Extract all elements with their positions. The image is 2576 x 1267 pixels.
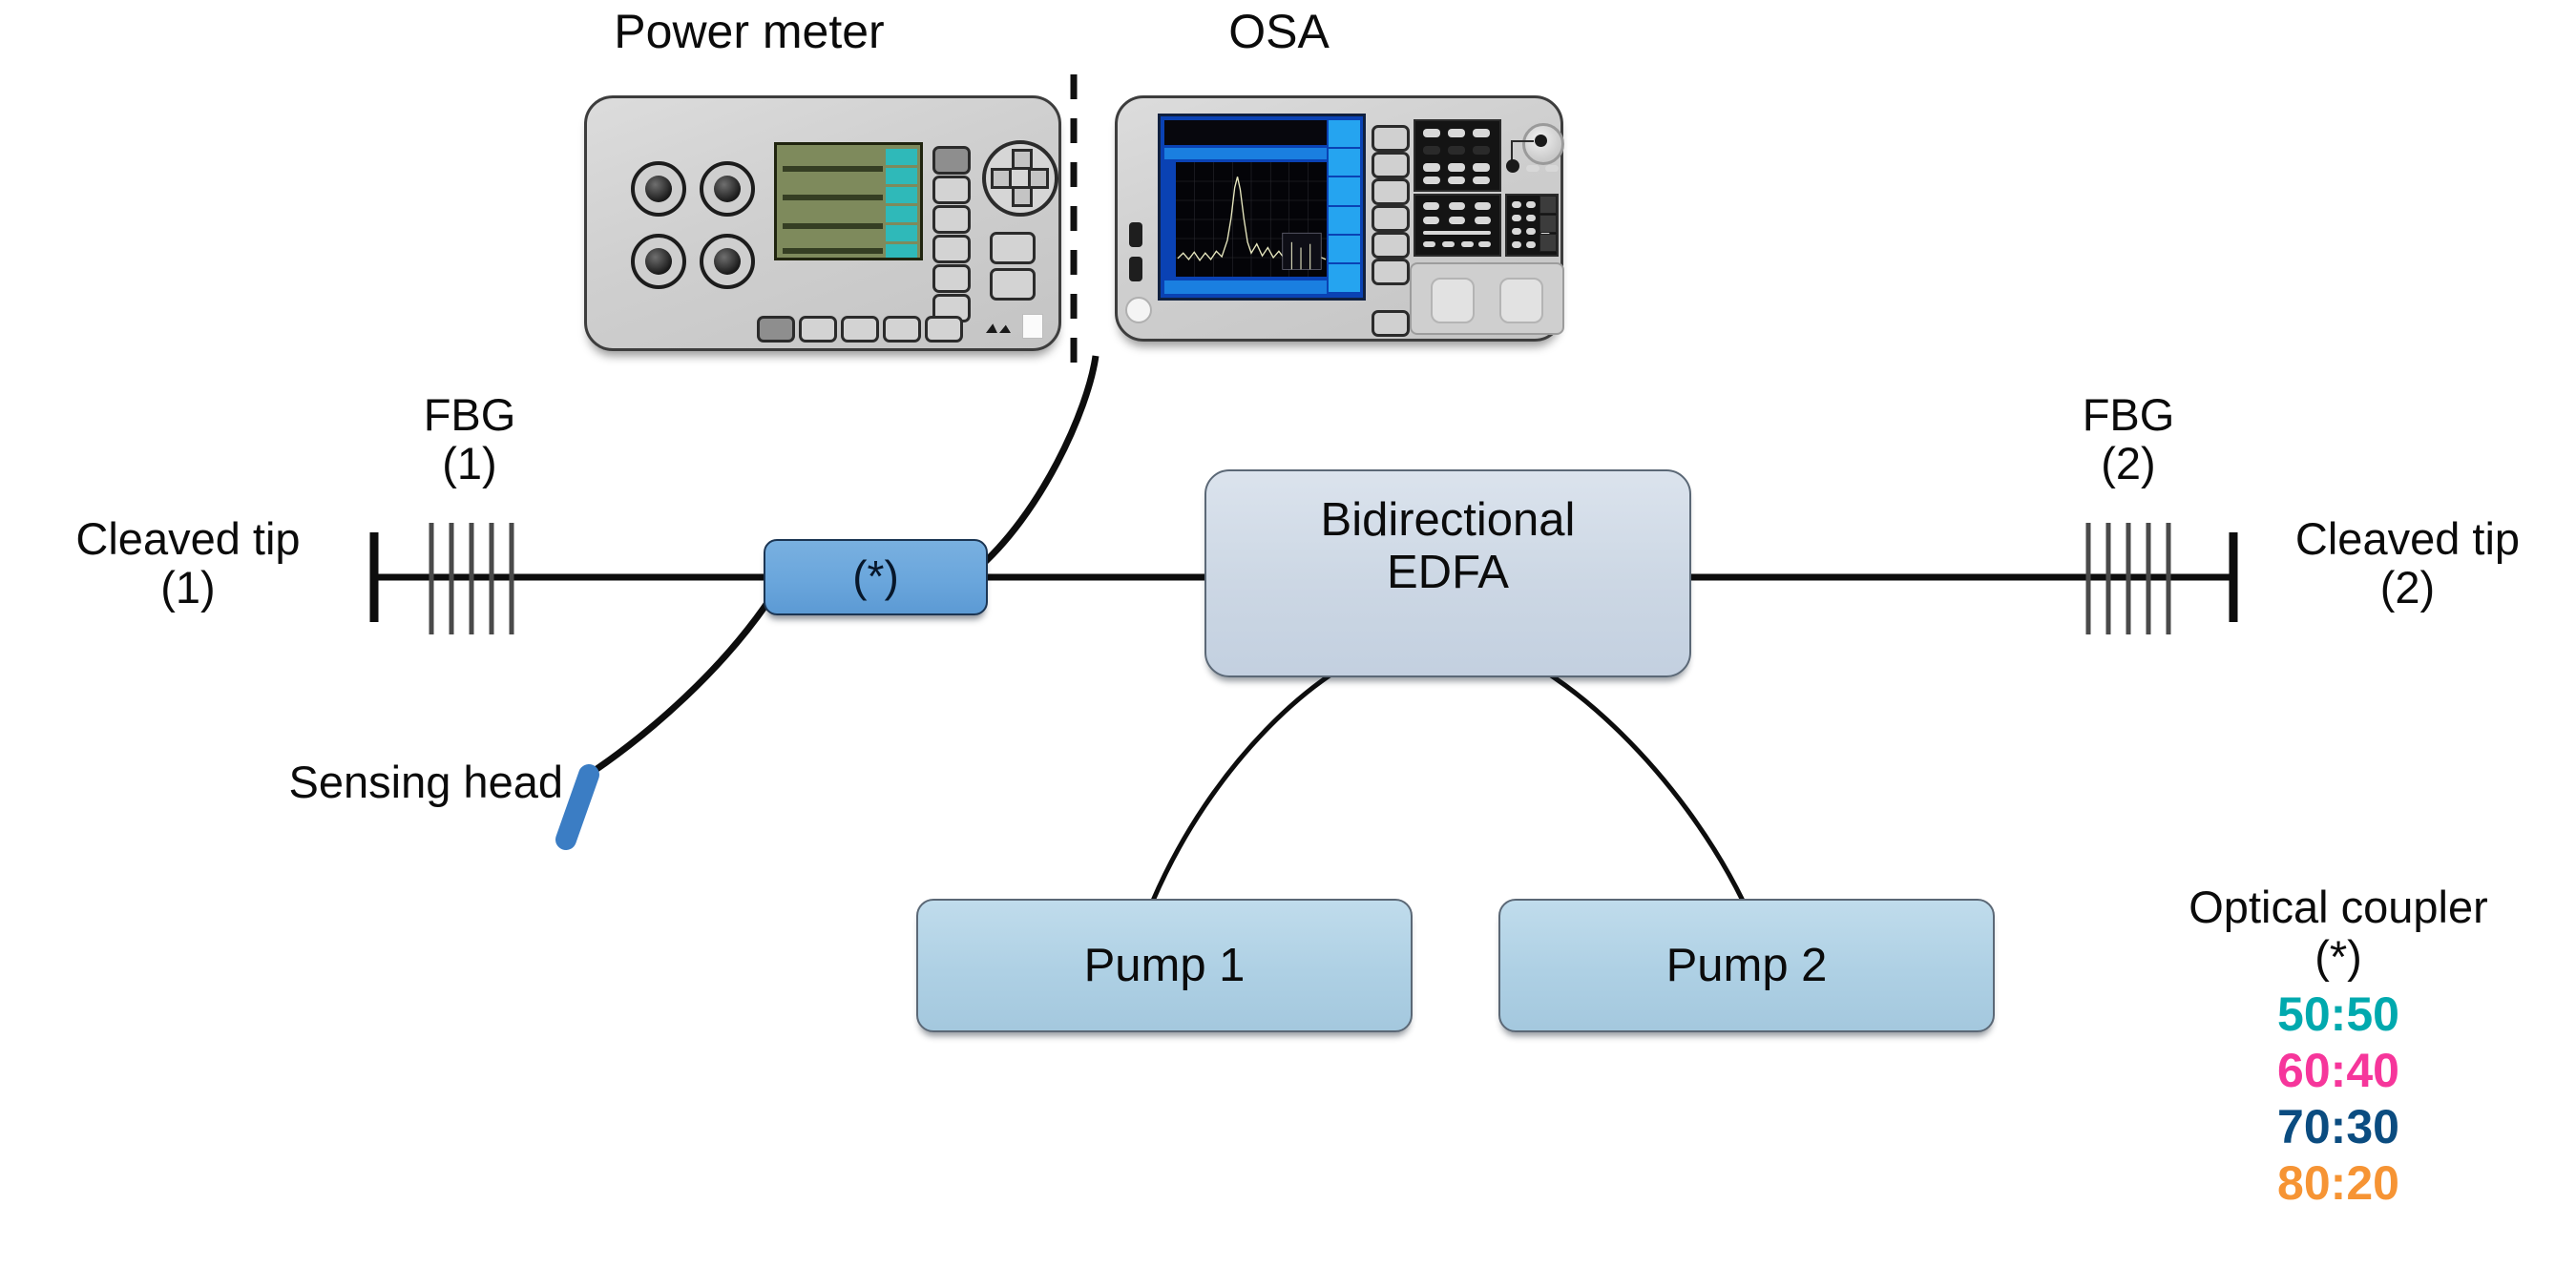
osa-bottom-button-1[interactable] (1431, 278, 1475, 323)
fiber-pump2-to-edfa (1494, 647, 1743, 901)
power-meter-port-4[interactable] (700, 234, 755, 289)
power-meter-bottom-key-5[interactable] (925, 316, 963, 343)
cleaved-tip-1-label: Cleaved tip (1) (11, 515, 365, 613)
osa-enter-key-column[interactable] (1539, 194, 1557, 253)
osa-instrument[interactable] (1115, 95, 1563, 342)
power-meter-title: Power meter (539, 6, 959, 57)
cleaved-tip-2-label: Cleaved tip (2) (2243, 515, 2572, 613)
legend-title: Optical coupler (*) (2128, 883, 2548, 981)
osa-power-led (1125, 297, 1152, 323)
legend-ratio-60-40: 60:40 (2128, 1043, 2548, 1099)
osa-bezel-softkey-column[interactable] (1372, 125, 1404, 297)
osa-display-paramstrip (1164, 148, 1327, 159)
power-meter-port-1[interactable] (631, 161, 686, 217)
optical-coupler-component[interactable]: (*) (764, 539, 988, 615)
power-meter-instrument[interactable] (584, 95, 1061, 351)
osa-usb-port-2[interactable] (1129, 257, 1142, 281)
osa-title: OSA (1136, 6, 1422, 57)
power-meter-bottom-key-3[interactable] (841, 316, 879, 343)
pump-2-block[interactable]: Pump 2 (1498, 899, 1995, 1032)
power-meter-softkey-4[interactable] (932, 235, 971, 263)
osa-control-panel-left[interactable] (1414, 119, 1501, 192)
power-meter-softkey-2[interactable] (932, 176, 971, 204)
power-meter-navigation-pad[interactable] (982, 140, 1058, 217)
legend-ratio-70-30: 70:30 (2128, 1099, 2548, 1155)
osa-display-footer (1164, 280, 1327, 294)
optical-coupler-legend: Optical coupler (*) 50:50 60:40 70:30 80… (2128, 883, 2548, 1212)
osa-bottom-button-group[interactable] (1410, 262, 1564, 335)
osa-bottom-button-2[interactable] (1499, 278, 1543, 323)
osa-display-softkeys[interactable] (1329, 120, 1360, 294)
power-meter-softkey-3[interactable] (932, 205, 971, 234)
power-meter-bottom-key-2[interactable] (799, 316, 837, 343)
power-meter-bottom-key-1[interactable] (757, 316, 795, 343)
fiber-coupler-to-instruments (975, 356, 1096, 571)
osa-bezel-softkey-bottom[interactable] (1372, 310, 1410, 337)
fiber-pump1-to-edfa (1153, 647, 1386, 901)
fbg-1-label: FBG (1) (365, 391, 575, 488)
power-meter-port-2[interactable] (700, 161, 755, 217)
power-meter-port-3[interactable] (631, 234, 686, 289)
osa-knob-area[interactable] (1505, 119, 1560, 188)
legend-ratio-list: 50:50 60:40 70:30 80:20 (2128, 987, 2548, 1212)
bidirectional-edfa-block[interactable]: Bidirectional EDFA (1204, 469, 1691, 677)
fiber-coupler-to-sensing-head (584, 592, 775, 778)
osa-knob-dot (1506, 159, 1519, 173)
power-meter-softkey-1[interactable] (932, 146, 971, 175)
fbg-2-label: FBG (2) (2023, 391, 2233, 488)
osa-plot-area (1176, 162, 1327, 277)
sensing-head-label: Sensing head (181, 758, 563, 807)
power-meter-button-b[interactable] (990, 268, 1036, 301)
power-meter-indicator-icons (986, 320, 1011, 333)
osa-keypad-left[interactable] (1414, 194, 1501, 257)
legend-ratio-80-20: 80:20 (2128, 1155, 2548, 1212)
osa-spectrum-display (1158, 114, 1366, 301)
optical-setup-diagram: Power meter (0, 0, 2576, 1267)
osa-usb-port-1[interactable] (1129, 222, 1142, 247)
power-meter-display (774, 142, 923, 260)
osa-display-header (1164, 120, 1327, 145)
pump-1-block[interactable]: Pump 1 (916, 899, 1413, 1032)
sensing-head-tip (566, 775, 589, 840)
power-meter-bottom-key-4[interactable] (883, 316, 921, 343)
legend-ratio-50-50: 50:50 (2128, 987, 2548, 1043)
power-meter-softkey-5[interactable] (932, 264, 971, 293)
power-meter-button-a[interactable] (990, 232, 1036, 264)
power-meter-status-light (1022, 314, 1043, 339)
